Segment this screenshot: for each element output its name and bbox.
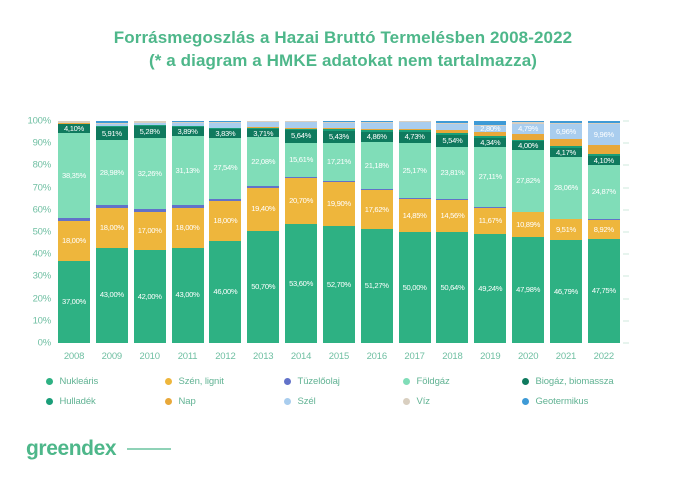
bar-segment[interactable]: 9,96% bbox=[588, 124, 620, 146]
plot-area: 0%10%20%30%40%50%60%70%80%90%100% 37,00%… bbox=[58, 121, 620, 343]
x-axis-label: 2008 bbox=[64, 351, 84, 362]
bar-segment-label: 4,79% bbox=[518, 125, 538, 133]
bar-segment-label: 4,34% bbox=[480, 139, 500, 147]
legend-row: HulladékNapSzélVízGeotermikus bbox=[0, 396, 686, 407]
y-axis-label: 50% bbox=[33, 227, 51, 238]
legend-item[interactable]: Nap bbox=[165, 396, 284, 407]
page-title: Forrásmegoszlás a Hazai Bruttó Termelésb… bbox=[0, 0, 686, 72]
bar-segment[interactable]: 43,00% bbox=[96, 248, 128, 343]
bar-segment-label: 14,56% bbox=[440, 212, 464, 220]
bar-segment[interactable]: 18,00% bbox=[96, 208, 128, 248]
bar-segment[interactable]: 27,54% bbox=[209, 138, 241, 199]
y-axis-label: 100% bbox=[28, 116, 52, 127]
x-axis-label: 2011 bbox=[178, 351, 198, 362]
bar-segment-label: 5,43% bbox=[329, 133, 349, 141]
bar-segment-label: 18,00% bbox=[62, 237, 86, 245]
bar-segment[interactable]: 8,92% bbox=[588, 220, 620, 239]
x-axis-label: 2012 bbox=[215, 351, 235, 362]
bar-segment-label: 47,98% bbox=[516, 286, 540, 294]
legend-label: Szél bbox=[298, 396, 316, 407]
y-axis-label: 70% bbox=[33, 182, 51, 193]
bar-segment-label: 46,79% bbox=[554, 288, 578, 296]
bar-segment[interactable]: 17,62% bbox=[361, 190, 393, 229]
x-axis-label: 2018 bbox=[442, 351, 462, 362]
bar-column[interactable]: 47,98%10,89%27,82%4,00%4,79%2020 bbox=[512, 121, 544, 343]
y-axis-label: 40% bbox=[33, 249, 51, 260]
title-line-2: (* a diagram a HMKE adatokat nem tartalm… bbox=[0, 49, 686, 72]
y-axis-tick bbox=[623, 254, 629, 255]
legend-row: NukleárisSzén, lignitTüzelőolajFöldgázBi… bbox=[0, 376, 686, 387]
bar-segment[interactable]: 10,89% bbox=[512, 212, 544, 236]
bar-segment[interactable]: 3,83% bbox=[209, 129, 241, 138]
bar-segment-label: 18,00% bbox=[176, 224, 200, 232]
bar-segment[interactable]: 46,00% bbox=[209, 241, 241, 343]
bar-segment[interactable]: 28,98% bbox=[96, 140, 128, 204]
bar-column[interactable]: 50,00%14,85%25,17%4,73%2017 bbox=[399, 121, 431, 343]
bar-segment[interactable]: 51,27% bbox=[361, 229, 393, 343]
x-axis-label: 2021 bbox=[556, 351, 576, 362]
bar-segment-label: 27,11% bbox=[479, 173, 502, 181]
y-axis-tick bbox=[623, 320, 629, 321]
legend-label: Földgáz bbox=[417, 376, 450, 387]
y-axis-label: 90% bbox=[33, 138, 51, 149]
y-axis-label: 10% bbox=[33, 315, 51, 326]
y-axis-label: 80% bbox=[33, 160, 51, 171]
bar-segment[interactable]: 4,79% bbox=[512, 124, 544, 135]
bar-segment[interactable]: 22,08% bbox=[247, 137, 279, 186]
x-axis-label: 2020 bbox=[518, 351, 538, 362]
legend-item[interactable]: Geotermikus bbox=[522, 396, 641, 407]
bar-segment[interactable]: 14,85% bbox=[399, 199, 431, 232]
bar-segment-label: 4,10% bbox=[64, 125, 84, 133]
legend-color-swatch-icon bbox=[403, 398, 410, 405]
bar-segment[interactable]: 19,90% bbox=[323, 182, 355, 226]
legend-color-swatch-icon bbox=[522, 398, 529, 405]
bar-segment[interactable]: 49,24% bbox=[474, 234, 506, 343]
bar-segment-label: 31,13% bbox=[176, 167, 200, 175]
bar-segment[interactable]: 37,00% bbox=[58, 261, 90, 343]
bar-segment-label: 10,89% bbox=[516, 221, 540, 229]
bar-segment[interactable]: 27,82% bbox=[512, 150, 544, 212]
footer-branding: greendex bbox=[26, 437, 171, 461]
bar-segment[interactable]: 25,17% bbox=[399, 143, 431, 199]
bar-segment-label: 32,26% bbox=[138, 170, 162, 178]
bar-segment-label: 50,70% bbox=[251, 283, 275, 291]
bar-segment[interactable]: 4,34% bbox=[474, 138, 506, 148]
legend-color-swatch-icon bbox=[165, 398, 172, 405]
bar-segment-label: 4,10% bbox=[594, 157, 614, 165]
bar-segment-label: 27,54% bbox=[213, 164, 237, 172]
bar-segment[interactable] bbox=[550, 139, 582, 146]
legend-label: Nap bbox=[179, 396, 196, 407]
bar-segment[interactable]: 20,70% bbox=[285, 178, 317, 224]
y-axis-label: 20% bbox=[33, 293, 51, 304]
bar-segment[interactable]: 4,73% bbox=[399, 132, 431, 143]
chart-legend: NukleárisSzén, lignitTüzelőolajFöldgázBi… bbox=[0, 376, 686, 416]
bar-segment-label: 3,89% bbox=[178, 128, 198, 136]
bar-column[interactable]: 50,64%14,56%23,81%5,54%2018 bbox=[436, 121, 468, 343]
bar-segment-label: 20,70% bbox=[289, 197, 313, 205]
bar-segment[interactable]: 14,56% bbox=[436, 200, 468, 232]
bar-segment-label: 14,85% bbox=[403, 212, 427, 220]
x-axis-label: 2015 bbox=[329, 351, 349, 362]
bar-column[interactable]: 52,70%19,90%17,21%5,43%2015 bbox=[323, 121, 355, 343]
x-axis-label: 2013 bbox=[253, 351, 273, 362]
x-axis-label: 2019 bbox=[480, 351, 500, 362]
x-axis-label: 2010 bbox=[140, 351, 160, 362]
bar-segment[interactable]: 42,00% bbox=[134, 250, 166, 343]
bar-segment-label: 28,98% bbox=[100, 169, 124, 177]
bar-segment-label: 42,00% bbox=[138, 293, 162, 301]
bar-segment[interactable]: 38,35% bbox=[58, 133, 90, 218]
logo-divider bbox=[127, 448, 171, 450]
bar-segment-label: 51,27% bbox=[365, 282, 389, 290]
greendex-logo: greendex bbox=[26, 437, 116, 461]
bar-segment[interactable]: 24,87% bbox=[588, 165, 620, 219]
bar-segment[interactable]: 21,18% bbox=[361, 142, 393, 189]
bar-segment-label: 5,91% bbox=[102, 130, 122, 138]
bar-segment-label: 50,64% bbox=[440, 284, 464, 292]
bar-column[interactable]: 53,60%20,70%15,61%5,64%2014 bbox=[285, 121, 317, 343]
bar-column[interactable]: 49,24%11,67%27,11%4,34%2,80%2019 bbox=[474, 121, 506, 343]
bar-segment-label: 4,86% bbox=[367, 133, 387, 141]
bar-segment[interactable]: 50,00% bbox=[399, 232, 431, 343]
bar-segment-label: 24,87% bbox=[592, 188, 616, 196]
bar-segment-label: 17,62% bbox=[365, 206, 389, 214]
bar-column[interactable]: 42,00%17,00%32,26%5,28%2010 bbox=[134, 121, 166, 343]
x-axis-label: 2014 bbox=[291, 351, 311, 362]
bar-column[interactable]: 50,70%19,40%22,08%3,71%2013 bbox=[247, 121, 279, 343]
bar-segment-label: 23,81% bbox=[440, 169, 464, 177]
bar-segment[interactable]: 3,71% bbox=[247, 129, 279, 137]
legend-item[interactable]: Földgáz bbox=[403, 376, 522, 387]
bar-segment-label: 4,73% bbox=[405, 133, 425, 141]
bar-segment[interactable]: 5,64% bbox=[285, 130, 317, 143]
bar-segment-label: 5,64% bbox=[291, 132, 311, 140]
stacked-bar-chart: 0%10%20%30%40%50%60%70%80%90%100% 37,00%… bbox=[0, 113, 686, 361]
legend-color-swatch-icon bbox=[46, 398, 53, 405]
bar-segment-label: 22,08% bbox=[251, 158, 275, 166]
bar-segment[interactable]: 4,00% bbox=[512, 141, 544, 150]
bar-segment[interactable]: 23,81% bbox=[436, 147, 468, 199]
bar-segment[interactable]: 4,17% bbox=[550, 148, 582, 157]
bar-segment-label: 50,00% bbox=[403, 284, 427, 292]
title-line-1: Forrásmegoszlás a Hazai Bruttó Termelésb… bbox=[0, 26, 686, 49]
bar-segment[interactable]: 28,06% bbox=[550, 157, 582, 219]
legend-color-swatch-icon bbox=[46, 378, 53, 385]
bar-segment-label: 4,17% bbox=[556, 149, 576, 157]
bar-segment-label: 43,00% bbox=[176, 291, 200, 299]
bar-segment-label: 19,90% bbox=[327, 200, 351, 208]
legend-item[interactable]: Hulladék bbox=[46, 396, 165, 407]
legend-item[interactable]: Biogáz, biomassza bbox=[522, 376, 641, 387]
bar-segment[interactable]: 11,67% bbox=[474, 208, 506, 234]
bar-segment-label: 8,92% bbox=[594, 226, 614, 234]
bar-segment-label: 43,00% bbox=[100, 291, 124, 299]
bar-column[interactable]: 46,00%18,00%27,54%3,83%2012 bbox=[209, 121, 241, 343]
bar-segment[interactable]: 52,70% bbox=[323, 226, 355, 343]
y-axis-label: 60% bbox=[33, 204, 51, 215]
bar-segment-label: 17,21% bbox=[327, 158, 351, 166]
bar-segment-label: 11,67% bbox=[479, 217, 502, 225]
y-axis-tick bbox=[623, 232, 629, 233]
bar-column[interactable]: 43,00%18,00%31,13%3,89%2011 bbox=[172, 121, 204, 343]
legend-label: Biogáz, biomassza bbox=[536, 376, 614, 387]
bar-segment-label: 27,82% bbox=[516, 177, 540, 185]
bar-segment-label: 49,24% bbox=[478, 285, 502, 293]
legend-label: Víz bbox=[417, 396, 430, 407]
bar-column[interactable]: 47,75%8,92%24,87%4,10%9,96%2022 bbox=[588, 121, 620, 343]
legend-color-swatch-icon bbox=[165, 378, 172, 385]
y-axis-tick bbox=[623, 209, 629, 210]
bar-segment[interactable]: 18,00% bbox=[58, 221, 90, 261]
bar-column[interactable]: 46,79%9,51%28,06%4,17%6,96%2021 bbox=[550, 121, 582, 343]
bar-segment-label: 47,75% bbox=[592, 287, 616, 295]
bar-segment-label: 19,40% bbox=[251, 205, 275, 213]
y-axis-tick bbox=[623, 187, 629, 188]
bar-segment[interactable]: 47,75% bbox=[588, 239, 620, 343]
bar-segment-label: 18,00% bbox=[213, 217, 237, 225]
bar-segment-label: 5,28% bbox=[140, 128, 160, 136]
bar-segment[interactable]: 53,60% bbox=[285, 224, 317, 343]
bar-segment[interactable]: 15,61% bbox=[285, 143, 317, 178]
legend-color-swatch-icon bbox=[403, 378, 410, 385]
bar-segment[interactable]: 50,64% bbox=[436, 232, 468, 343]
bar-group: 37,00%18,00%38,35%4,10%200843,00%18,00%2… bbox=[58, 121, 620, 343]
y-axis-label: 0% bbox=[38, 338, 51, 349]
y-axis-tick bbox=[623, 143, 629, 144]
bar-segment[interactable]: 3,89% bbox=[172, 127, 204, 136]
legend-label: Hulladék bbox=[60, 396, 96, 407]
bar-segment[interactable]: 5,91% bbox=[96, 127, 128, 140]
bar-segment-label: 38,35% bbox=[62, 172, 86, 180]
x-axis-label: 2016 bbox=[367, 351, 387, 362]
legend-item[interactable]: Tüzelőolaj bbox=[284, 376, 403, 387]
bar-segment[interactable]: 32,26% bbox=[134, 138, 166, 210]
bar-segment-label: 52,70% bbox=[327, 281, 351, 289]
bar-segment[interactable]: 43,00% bbox=[172, 248, 204, 343]
bar-segment-label: 18,00% bbox=[100, 224, 124, 232]
bar-segment[interactable]: 31,13% bbox=[172, 136, 204, 205]
bar-segment[interactable]: 5,54% bbox=[436, 135, 468, 147]
bar-segment[interactable]: 46,79% bbox=[550, 240, 582, 343]
y-axis-tick bbox=[623, 276, 629, 277]
bar-segment[interactable]: 18,00% bbox=[172, 208, 204, 248]
x-axis-label: 2009 bbox=[102, 351, 122, 362]
bar-column[interactable]: 43,00%18,00%28,98%5,91%2009 bbox=[96, 121, 128, 343]
bar-segment[interactable]: 4,86% bbox=[361, 132, 393, 143]
legend-label: Geotermikus bbox=[536, 396, 589, 407]
bar-segment[interactable]: 5,28% bbox=[134, 126, 166, 138]
bar-segment[interactable]: 4,10% bbox=[588, 156, 620, 165]
bar-segment[interactable]: 4,10% bbox=[58, 124, 90, 133]
legend-item[interactable]: Nukleáris bbox=[46, 376, 165, 387]
bar-segment-label: 3,71% bbox=[253, 130, 273, 138]
bar-segment[interactable]: 18,00% bbox=[209, 201, 241, 241]
bar-segment-label: 15,61% bbox=[289, 156, 313, 164]
x-axis-label: 2022 bbox=[594, 351, 614, 362]
bar-segment-label: 53,60% bbox=[289, 280, 313, 288]
bar-segment-label: 37,00% bbox=[62, 298, 86, 306]
y-axis-tick bbox=[623, 298, 629, 299]
legend-item[interactable]: Víz bbox=[403, 396, 522, 407]
bar-segment-label: 6,96% bbox=[556, 128, 576, 136]
bar-segment-label: 21,18% bbox=[365, 162, 389, 170]
bar-segment[interactable]: 5,43% bbox=[323, 131, 355, 143]
bar-segment-label: 17,00% bbox=[138, 227, 162, 235]
legend-label: Szén, lignit bbox=[179, 376, 224, 387]
bar-segment-label: 46,00% bbox=[213, 288, 237, 296]
bar-segment[interactable]: 27,11% bbox=[474, 147, 506, 207]
bar-segment-label: 3,83% bbox=[215, 130, 235, 138]
bar-column[interactable]: 37,00%18,00%38,35%4,10%2008 bbox=[58, 121, 90, 343]
bar-segment[interactable]: 17,00% bbox=[134, 212, 166, 250]
x-axis-label: 2017 bbox=[404, 351, 424, 362]
bar-segment[interactable] bbox=[588, 145, 620, 154]
legend-color-swatch-icon bbox=[522, 378, 529, 385]
bar-column[interactable]: 51,27%17,62%21,18%4,86%2016 bbox=[361, 121, 393, 343]
bar-segment[interactable]: 47,98% bbox=[512, 237, 544, 344]
bar-segment[interactable]: 19,40% bbox=[247, 188, 279, 231]
bar-segment[interactable]: 6,96% bbox=[550, 124, 582, 139]
legend-color-swatch-icon bbox=[284, 378, 291, 385]
bar-segment-label: 28,06% bbox=[554, 184, 578, 192]
bar-segment[interactable]: 50,70% bbox=[247, 231, 279, 343]
legend-item[interactable]: Szén, lignit bbox=[165, 376, 284, 387]
bar-segment[interactable]: 17,21% bbox=[323, 143, 355, 181]
y-axis-tick bbox=[623, 121, 629, 122]
bar-segment-label: 9,51% bbox=[556, 226, 576, 234]
bar-segment-label: 9,96% bbox=[594, 131, 614, 139]
bar-segment-label: 4,00% bbox=[518, 142, 538, 150]
legend-item[interactable]: Szél bbox=[284, 396, 403, 407]
y-axis-tick bbox=[623, 165, 629, 166]
y-axis-label: 30% bbox=[33, 271, 51, 282]
bar-segment[interactable]: 9,51% bbox=[550, 219, 582, 240]
y-axis-tick bbox=[623, 343, 629, 344]
legend-color-swatch-icon bbox=[284, 398, 291, 405]
legend-label: Tüzelőolaj bbox=[298, 376, 340, 387]
legend-label: Nukleáris bbox=[60, 376, 99, 387]
bar-segment-label: 25,17% bbox=[403, 167, 427, 175]
bar-segment-label: 5,54% bbox=[442, 137, 462, 145]
